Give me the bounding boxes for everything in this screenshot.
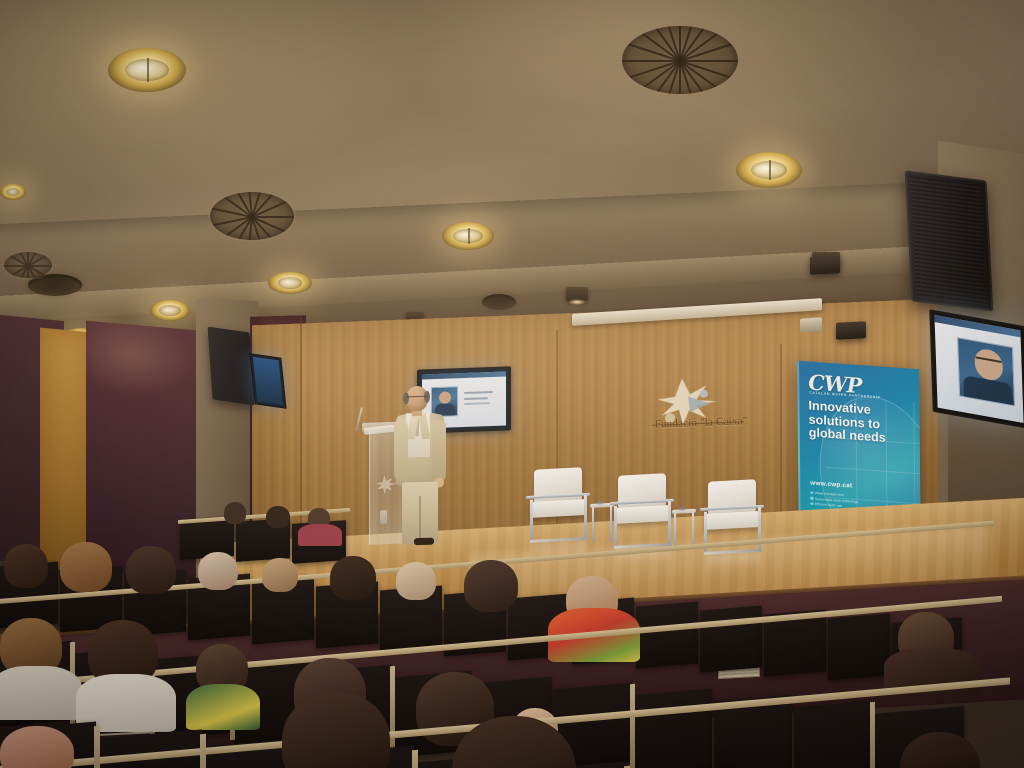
slide-header-band bbox=[422, 372, 506, 380]
seat-divider bbox=[412, 750, 418, 768]
slide-portrait-closeup bbox=[957, 338, 1014, 407]
ceiling-downlight-icon bbox=[268, 272, 312, 294]
ceiling-downlight-icon bbox=[0, 184, 26, 200]
ceiling-downlight-icon bbox=[736, 152, 802, 188]
ceiling-downlight-icon bbox=[442, 222, 494, 250]
audience-head bbox=[464, 560, 518, 612]
audience-shoulders bbox=[298, 524, 342, 546]
ceiling-downlight-icon bbox=[150, 300, 190, 321]
bullet-square-icon bbox=[810, 491, 813, 494]
eyeglasses-icon bbox=[406, 396, 428, 402]
ceiling-spotlight-icon bbox=[566, 287, 588, 301]
wall-loudspeaker-icon bbox=[905, 170, 994, 311]
seat-back[interactable] bbox=[794, 701, 872, 768]
ceiling-downlight-icon bbox=[108, 48, 186, 92]
audience-head bbox=[0, 726, 74, 768]
audience-shoulders bbox=[186, 684, 260, 730]
audience-head bbox=[198, 552, 238, 590]
seat-back[interactable] bbox=[634, 689, 712, 768]
audience-head bbox=[262, 558, 298, 592]
audience-head bbox=[4, 544, 48, 588]
wall-loudspeaker-icon bbox=[810, 255, 840, 275]
audience-shoulders bbox=[0, 666, 82, 720]
speaker-arm bbox=[432, 419, 446, 481]
speaker-arm bbox=[394, 420, 408, 480]
audience-head bbox=[224, 502, 246, 524]
wall-loudspeaker-icon bbox=[208, 327, 255, 406]
seat-back[interactable] bbox=[636, 602, 698, 669]
repeater-screen[interactable] bbox=[929, 309, 1024, 429]
seat-divider bbox=[94, 726, 100, 768]
audience-head bbox=[266, 506, 290, 528]
wall-loudspeaker-icon bbox=[836, 321, 866, 340]
confidence-monitor[interactable] bbox=[249, 353, 286, 409]
seat-divider bbox=[390, 666, 395, 752]
seat-divider bbox=[630, 684, 635, 768]
seat-divider bbox=[870, 702, 875, 768]
ceiling-air-diffuser-icon bbox=[4, 252, 52, 278]
seat-back[interactable] bbox=[700, 606, 762, 673]
slide-surface bbox=[934, 315, 1023, 423]
audience-head bbox=[330, 556, 376, 600]
audience-head bbox=[396, 562, 436, 600]
ceiling-air-diffuser-icon bbox=[210, 192, 294, 240]
projection-screen-end-cap bbox=[800, 317, 822, 332]
ceiling-recessed-can-icon bbox=[482, 294, 516, 310]
fundacio-la-caixa-logo: Fundació "la Caixa" bbox=[632, 369, 764, 436]
audience-seating bbox=[0, 500, 1024, 768]
ceiling-air-diffuser-icon bbox=[622, 26, 738, 94]
seat-back[interactable] bbox=[828, 614, 890, 681]
audience-head bbox=[126, 546, 176, 594]
banner-headline: Innovative solutions to global needs bbox=[808, 399, 886, 445]
seat-divider bbox=[200, 734, 206, 768]
audience-head bbox=[60, 542, 112, 592]
auditorium-photo: Fundació "la Caixa" bbox=[0, 0, 1024, 768]
